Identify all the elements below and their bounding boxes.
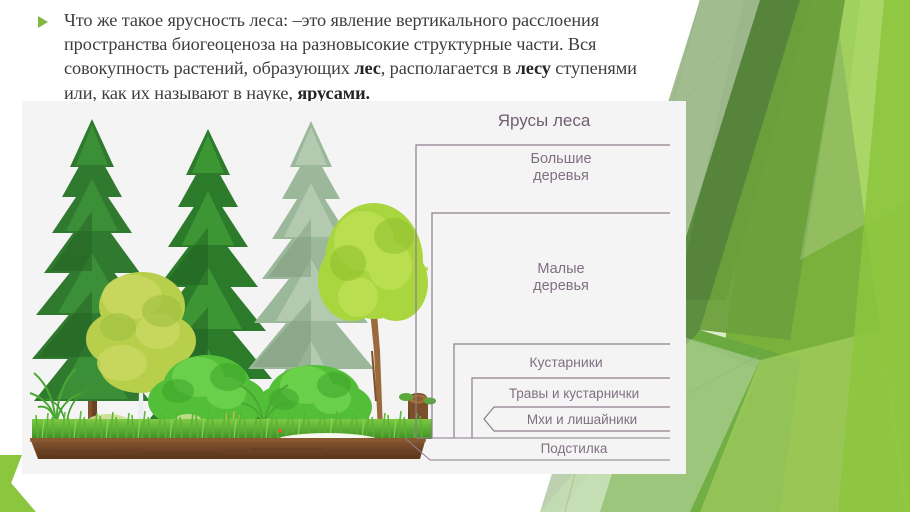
bullet-seg-5: ярусами. xyxy=(297,83,370,103)
bullet-seg-1: лес xyxy=(354,58,380,78)
layer-label-small-trees-line2: деревья xyxy=(452,278,670,295)
layer-label-small-trees-line1: Малые xyxy=(452,261,670,278)
bullet-text: Что же такое ярусность леса: –это явлени… xyxy=(64,8,658,105)
bullet-seg-2: , располагается в xyxy=(381,58,516,78)
hairline-3 xyxy=(686,0,760,100)
layer-label-big-trees-line2: деревья xyxy=(452,168,670,185)
forest-layers-picture-panel: Ярусы леса Большие деревья Малые деревья… xyxy=(22,101,686,474)
poly-mid-green xyxy=(700,0,905,512)
bullet-seg-3: лесу xyxy=(516,58,551,78)
layer-label-small-trees: Малые деревья xyxy=(452,261,670,295)
layer-label-litter: Подстилка xyxy=(478,441,670,457)
left-accent-wedge xyxy=(0,455,22,512)
poly-bright-right-2 xyxy=(800,0,910,512)
poly-translucent-4 xyxy=(800,0,910,260)
diagram-title: Ярусы леса xyxy=(417,111,671,131)
layer-label-herbs: Травы и кустарнички xyxy=(478,386,670,402)
poly-green-overlay xyxy=(700,0,845,340)
layer-label-mosses: Мхи и лишайники xyxy=(494,412,670,428)
poly-bright-right xyxy=(742,0,910,512)
slide-canvas: Что же такое ярусность леса: –это явлени… xyxy=(0,0,910,512)
soil-base xyxy=(30,438,426,459)
layer-label-shrubs: Кустарники xyxy=(462,354,670,371)
bullet-paragraph: Что же такое ярусность леса: –это явлени… xyxy=(38,8,658,105)
poly-dark-green-2 xyxy=(676,0,812,300)
left-accent-wedge-2 xyxy=(0,470,36,512)
layer-label-big-trees: Большие деревья xyxy=(452,151,670,185)
layer-label-big-trees-line1: Большие xyxy=(452,151,670,168)
triangle-right-bullet-icon xyxy=(38,16,48,28)
poly-bright-strip xyxy=(838,0,910,512)
poly-translucent-3 xyxy=(700,330,910,512)
